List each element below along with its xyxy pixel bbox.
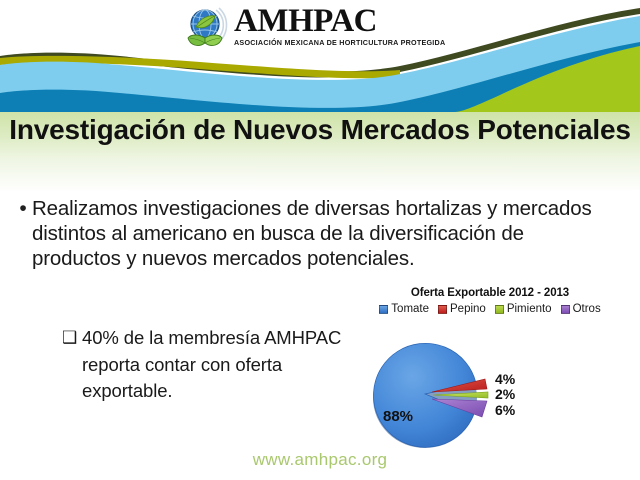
pie-label-pimiento: 2% xyxy=(495,386,516,402)
legend-item-pepino: Pepino xyxy=(438,303,486,315)
legend-item-tomate: Tomate xyxy=(379,303,429,315)
legend-label-otros: Otros xyxy=(573,303,601,315)
pie-chart: Oferta Exportable 2012 - 2013 Tomate Pep… xyxy=(340,286,640,461)
legend-swatch-otros xyxy=(561,305,570,314)
slide-canvas: AMHPAC ASOCIACIÓN MEXICANA DE HORTICULTU… xyxy=(0,0,640,480)
amhpac-logo: AMHPAC ASOCIACIÓN MEXICANA DE HORTICULTU… xyxy=(186,4,476,52)
logo-tagline: ASOCIACIÓN MEXICANA DE HORTICULTURA PROT… xyxy=(234,38,467,47)
main-bullet-text: Realizamos investigaciones de diversas h… xyxy=(32,196,614,271)
legend-item-otros: Otros xyxy=(561,303,601,315)
chart-title: Oferta Exportable 2012 - 2013 xyxy=(340,286,640,300)
logo-text-block: AMHPAC ASOCIACIÓN MEXICANA DE HORTICULTU… xyxy=(234,4,474,47)
logo-wordmark: AMHPAC xyxy=(234,4,474,38)
pie-graphic: 88% 4% 2% 6% xyxy=(340,322,640,460)
main-bullet: • Realizamos investigaciones de diversas… xyxy=(14,196,614,271)
sub-bullet-text: 40% de la membresía AMHPAC reporta conta… xyxy=(82,325,352,405)
legend-swatch-tomate xyxy=(379,305,388,314)
pie-label-tomate: 88% xyxy=(383,408,413,425)
legend-label-pepino: Pepino xyxy=(450,303,486,315)
chart-legend: Tomate Pepino Pimiento Otros xyxy=(340,303,640,315)
legend-label-tomate: Tomate xyxy=(391,303,429,315)
legend-item-pimiento: Pimiento xyxy=(495,303,552,315)
pie-label-pepino: 4% xyxy=(495,371,516,387)
legend-label-pimiento: Pimiento xyxy=(507,303,552,315)
legend-swatch-pimiento xyxy=(495,305,504,314)
footer-url: www.amhpac.org xyxy=(0,450,640,470)
pie-label-otros: 6% xyxy=(495,402,516,418)
legend-swatch-pepino xyxy=(438,305,447,314)
page-title: Investigación de Nuevos Mercados Potenci… xyxy=(0,113,640,146)
globe-leaves-logo-icon xyxy=(186,7,232,51)
hollow-square-bullet-icon: ❑ xyxy=(62,325,82,351)
bullet-dot-icon: • xyxy=(14,196,32,221)
sub-bullet: ❑ 40% de la membresía AMHPAC reporta con… xyxy=(62,325,352,405)
